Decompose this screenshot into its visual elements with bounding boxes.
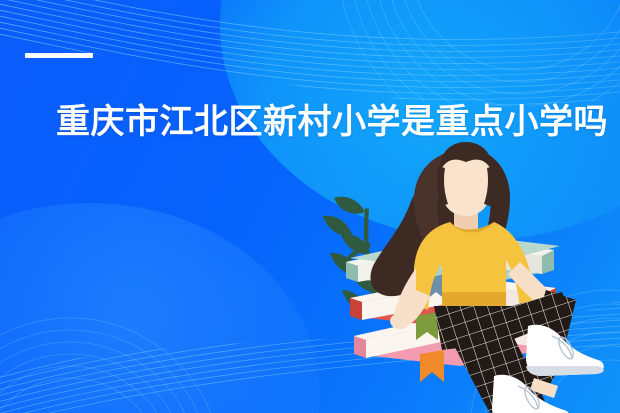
bookmark-orange-icon xyxy=(420,350,444,382)
illustration-woman-sitting-on-books xyxy=(310,140,620,413)
article-cover-banner: 重庆市江北区新村小学是重点小学吗 xyxy=(0,0,620,413)
page-title: 重庆市江北区新村小学是重点小学吗 xyxy=(56,99,586,145)
accent-rule xyxy=(25,53,93,58)
